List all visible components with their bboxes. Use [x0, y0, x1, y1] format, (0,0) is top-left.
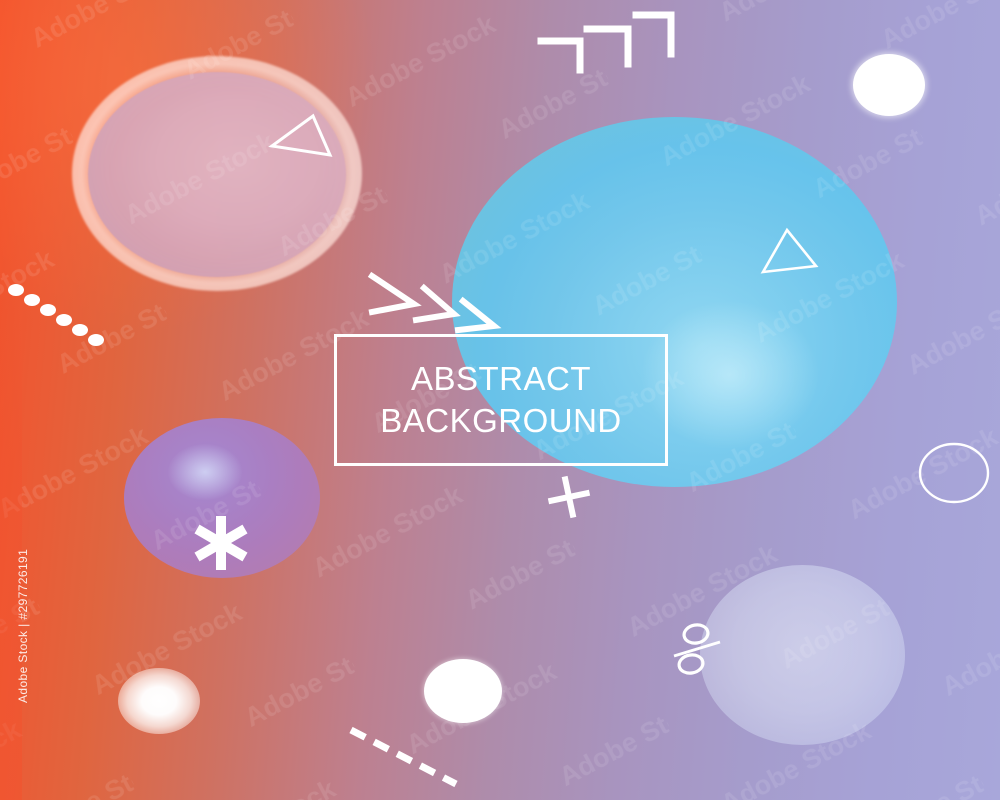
solid-white-ellipse-top-right [853, 54, 925, 116]
purple-ellipse-highlight [168, 444, 242, 500]
dashed-diagonal-line [348, 726, 460, 788]
abstract-background-artwork: ABSTRACT BACKGROUND Adobe Stock Adobe St… [0, 0, 1000, 800]
attribution-label: Adobe Stock | #297726191 [16, 507, 30, 707]
solid-white-ellipse-bottom [424, 659, 502, 723]
chevron-arrow-group-middle [368, 268, 508, 336]
chevron-arrow-group-top [532, 2, 680, 80]
white-glow-ellipse [118, 668, 200, 734]
title-frame [334, 334, 668, 466]
triangle-outline-icon-top-left [268, 110, 338, 170]
asterisk-icon [186, 508, 256, 578]
dotted-diagonal-line [8, 282, 104, 348]
percent-icon [672, 618, 732, 680]
pink-glow-ellipse [88, 72, 346, 277]
plus-cross-icon [542, 470, 596, 524]
triangle-outline-icon-right [754, 224, 828, 286]
ellipse-outline-ring [918, 441, 990, 505]
